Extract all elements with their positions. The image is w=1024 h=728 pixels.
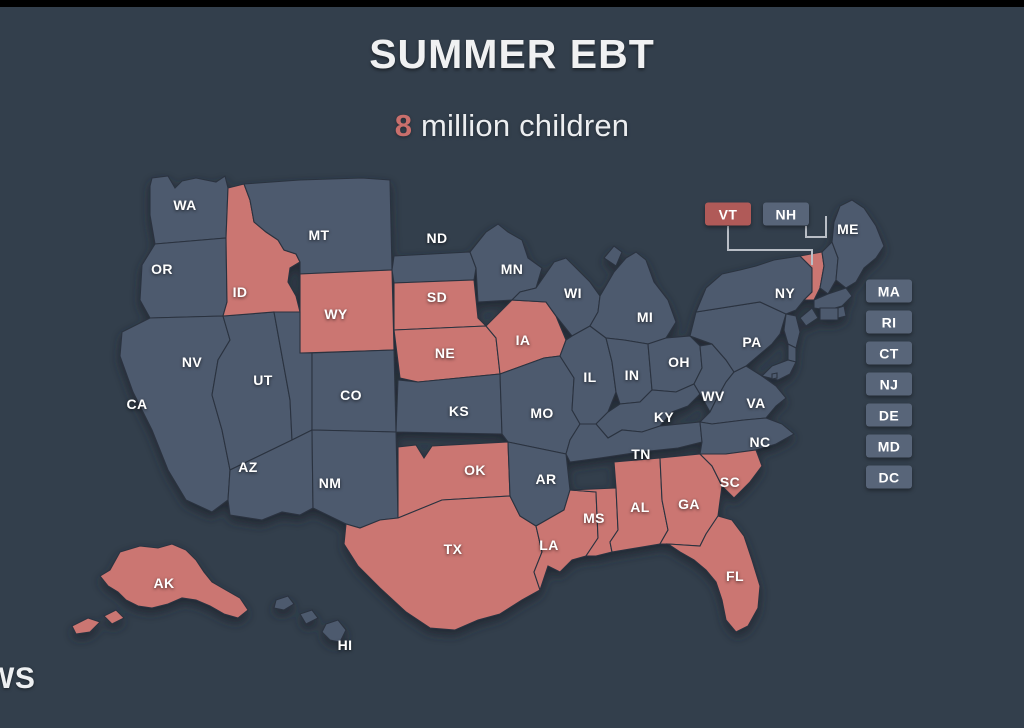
state-NC[interactable] (700, 418, 794, 454)
leader-line-vt-vertical (727, 226, 729, 251)
state-WA[interactable] (150, 176, 228, 244)
callout-box-NJ[interactable]: NJ (866, 373, 912, 396)
callout-box-DC[interactable]: DC (866, 466, 912, 489)
leader-line-vt-drop (811, 249, 813, 265)
leader-line-nh-horizontal (805, 236, 827, 238)
state-NJ[interactable] (784, 314, 800, 348)
state-AK[interactable] (72, 544, 248, 634)
state-SD[interactable] (394, 280, 486, 330)
state-KS[interactable] (396, 374, 502, 434)
state-NM[interactable] (312, 430, 398, 528)
leader-line-nh-drop (825, 216, 827, 238)
callout-box-NH[interactable]: NH (763, 203, 809, 226)
state-ME[interactable] (832, 200, 884, 288)
broadcaster-watermark: WS (0, 662, 35, 696)
state-WY[interactable] (300, 270, 394, 353)
state-MO[interactable] (500, 356, 580, 454)
state-MI[interactable] (590, 246, 676, 344)
state-CT[interactable] (820, 308, 838, 320)
state-MA[interactable] (814, 288, 852, 310)
state-CO[interactable] (312, 350, 396, 432)
callout-box-RI[interactable]: RI (866, 311, 912, 334)
callout-box-CT[interactable]: CT (866, 342, 912, 365)
state-ND[interactable] (392, 252, 476, 283)
state-MD[interactable] (762, 360, 796, 380)
callout-box-DE[interactable]: DE (866, 404, 912, 427)
callout-box-MD[interactable]: MD (866, 435, 912, 458)
callout-box-VT[interactable]: VT (705, 203, 751, 226)
state-OR[interactable] (140, 238, 227, 318)
state-RI[interactable] (838, 306, 846, 318)
state-AL[interactable] (610, 458, 668, 552)
state-DC[interactable] (772, 373, 777, 379)
us-choropleth-map: WA OR CA NV ID MT WY UT AZ CO NM ND SD N… (0, 0, 1024, 728)
letterbox-top-bar (0, 0, 1024, 7)
callout-box-MA[interactable]: MA (866, 280, 912, 303)
infographic-stage: SUMMER EBT 8 million children (0, 0, 1024, 728)
leader-line-vt-horizontal (727, 249, 813, 251)
state-CA[interactable] (120, 316, 230, 512)
state-HI[interactable] (274, 596, 346, 642)
state-NE[interactable] (394, 326, 500, 382)
